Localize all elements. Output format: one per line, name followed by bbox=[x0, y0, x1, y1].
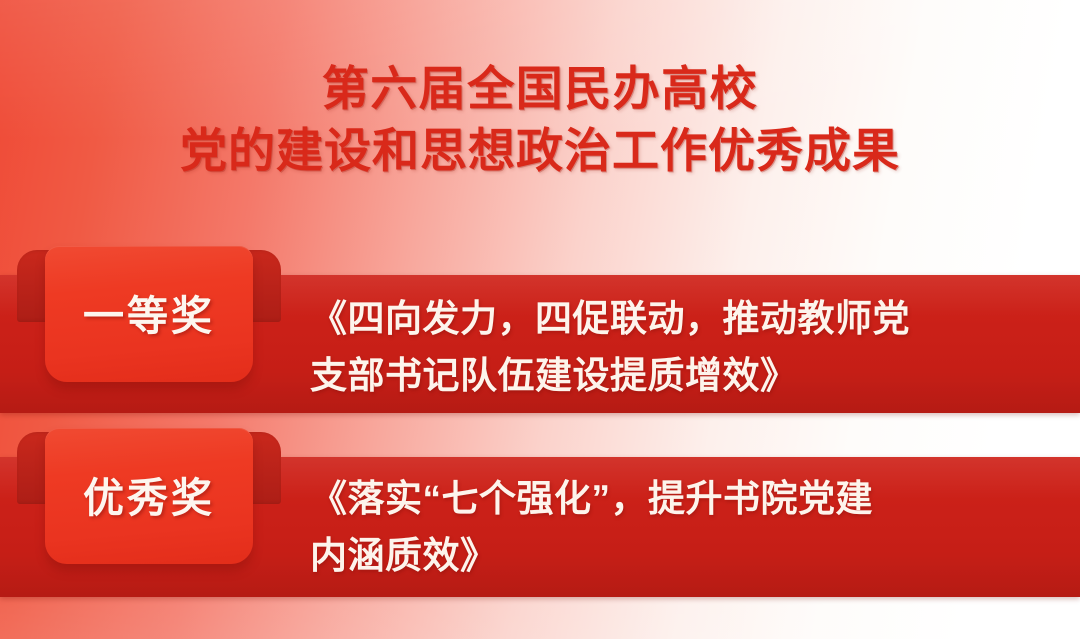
award-title-line: 支部书记队伍建设提质增效》 bbox=[310, 347, 1050, 404]
badge-face: 一等奖 bbox=[45, 246, 253, 382]
award-title-line: 《四向发力，四促联动，推动教师党 bbox=[310, 290, 1050, 347]
award-row: 优秀奖 《落实“七个强化”，提升书院党建 内涵质效》 bbox=[0, 428, 1080, 600]
award-poster: 第六届全国民办高校 党的建设和思想政治工作优秀成果 一等奖 《四向发力，四促联动… bbox=[0, 0, 1080, 639]
award-badge-label: 一等奖 bbox=[83, 296, 215, 337]
award-badge-label: 优秀奖 bbox=[83, 478, 215, 519]
award-title-line: 内涵质效》 bbox=[310, 527, 1050, 584]
page-title: 第六届全国民办高校 党的建设和思想政治工作优秀成果 bbox=[0, 58, 1080, 182]
award-title: 《落实“七个强化”，提升书院党建 内涵质效》 bbox=[310, 470, 1050, 584]
award-title-line: 《落实“七个强化”，提升书院党建 bbox=[310, 470, 1050, 527]
award-title: 《四向发力，四促联动，推动教师党 支部书记队伍建设提质增效》 bbox=[310, 290, 1050, 404]
badge-face: 优秀奖 bbox=[45, 428, 253, 564]
title-line-2: 党的建设和思想政治工作优秀成果 bbox=[0, 120, 1080, 182]
award-row: 一等奖 《四向发力，四促联动，推动教师党 支部书记队伍建设提质增效》 bbox=[0, 246, 1080, 416]
title-line-1: 第六届全国民办高校 bbox=[0, 58, 1080, 120]
award-badge: 一等奖 bbox=[17, 246, 281, 382]
award-badge: 优秀奖 bbox=[17, 428, 281, 564]
